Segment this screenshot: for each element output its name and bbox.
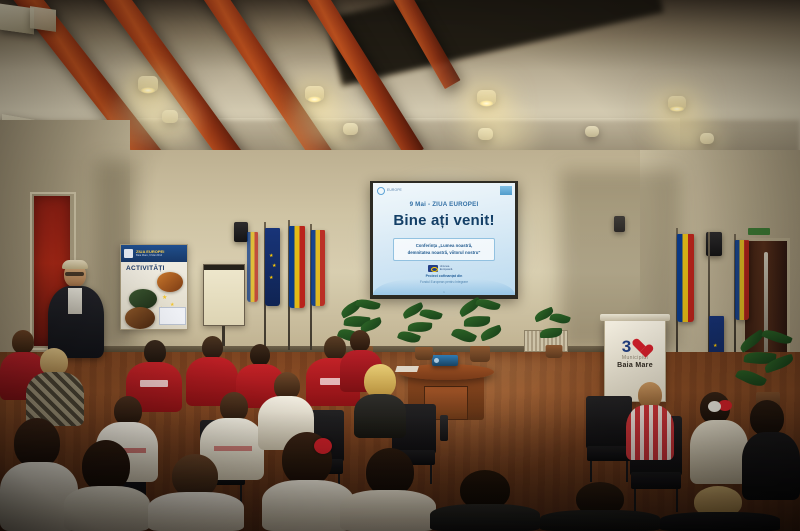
person-head <box>350 330 370 352</box>
podium-logo: 3 Municipiul Baia Mare <box>605 339 665 369</box>
person-head <box>202 336 223 359</box>
plant-leaf <box>549 311 571 326</box>
plant-leaf <box>451 325 477 345</box>
person-head <box>14 418 60 468</box>
ceiling-downlight <box>138 76 158 92</box>
plant-leaf <box>408 321 433 333</box>
plant-pot <box>415 347 433 360</box>
flipchart-board <box>203 264 245 326</box>
eu-star-icon: ★ <box>269 254 273 259</box>
person-white-shirt <box>64 486 150 531</box>
flag-romania-right-1 <box>677 234 694 322</box>
chair-seat <box>587 446 631 461</box>
poster-section-title: ACTIVITĂȚI <box>126 265 165 272</box>
flag-romania-left-2 <box>311 230 325 306</box>
child-foreground-white-shirt <box>148 454 244 531</box>
plant-leaf <box>540 328 562 338</box>
slide-textbox: Conferința „Lumea noastră, demnitatea no… <box>393 238 495 261</box>
plant-leaf <box>419 307 443 322</box>
flipchart-clamp <box>204 265 244 270</box>
poster-header: ZIUA EUROPEI Baia Mare, 9 Mai 2014 <box>121 245 187 262</box>
plant-leaf <box>355 297 381 312</box>
slide-logo-text: EUROPE <box>387 189 402 192</box>
potted-plant <box>398 304 450 360</box>
ceiling-downlight <box>305 86 324 101</box>
person-white-shirt <box>148 492 244 531</box>
potted-plant <box>530 308 578 358</box>
standing-man-presenter <box>46 262 108 358</box>
stone-corbel <box>30 6 56 32</box>
poster-photo <box>157 272 183 292</box>
ceiling-downlight <box>343 123 358 135</box>
person-hair-blonde <box>364 364 396 398</box>
chair-legs <box>590 461 629 482</box>
person-white-top <box>690 420 748 484</box>
seated-person-foreground <box>660 486 780 531</box>
person-white-shirt <box>340 490 436 531</box>
podium-logo-mark: 3 <box>622 339 648 354</box>
slide-eu-caption: Uniunea Europeană <box>440 265 460 271</box>
ceiling-downlight <box>477 90 496 105</box>
plant-pot <box>546 345 563 358</box>
poster-footer-block <box>159 307 186 325</box>
seated-woman-dark-top <box>742 400 800 500</box>
person-shirt <box>68 288 82 314</box>
eu-star-icon: ★ <box>269 276 273 281</box>
eu-star-icon: ★ <box>272 264 276 269</box>
star-icon: ★ <box>162 295 167 301</box>
ceiling-downlight <box>478 128 493 140</box>
hair-flower-red <box>314 438 332 454</box>
slide-eu-emblem: Uniunea Europeană <box>428 264 460 272</box>
person-body <box>430 504 540 531</box>
seated-woman-blonde <box>352 364 408 438</box>
shirt-embroidery <box>214 446 252 451</box>
flag-eu-left: ★ ★ ★ <box>265 228 280 306</box>
slide-textbox-line2: demnitatea noastră, viitorul nostru" <box>408 250 481 256</box>
ceiling-downlight <box>585 126 599 137</box>
seated-girl-red-bow <box>690 392 748 484</box>
heart-icon <box>632 339 648 354</box>
glasses-icon <box>65 272 84 276</box>
slide-page-number: 1 <box>373 290 515 294</box>
stone-corbel <box>0 4 34 35</box>
person-body <box>540 510 660 531</box>
person-plaid-shirt <box>626 405 674 460</box>
podium-logo-numeral: 3 <box>622 339 631 354</box>
tshirt-print <box>140 380 168 387</box>
poster-photo <box>129 289 157 309</box>
person-body <box>354 394 406 438</box>
conference-hall-photo: EUROPE 9 Mai - ZIUA EUROPEI Bine ați ven… <box>0 0 800 531</box>
person-head <box>250 344 270 366</box>
wall-speaker <box>234 222 248 242</box>
plant-leaf <box>479 325 503 342</box>
hair-flower <box>708 401 721 412</box>
seated-person-foreground <box>430 470 540 531</box>
potted-plant <box>452 300 508 362</box>
seated-boy-plaid-shirt <box>626 382 674 460</box>
equipment-box-under-table <box>440 415 448 441</box>
seated-woman-patterned-coat <box>26 348 84 426</box>
flag-romania-left-1 <box>289 226 305 308</box>
wall-speaker <box>614 216 625 232</box>
person-head <box>144 340 166 364</box>
person-head <box>750 400 784 436</box>
seated-person-foreground <box>540 482 660 531</box>
ceiling-downlight <box>700 133 714 144</box>
slide-logo: EUROPE <box>377 186 407 195</box>
seated-person-foreground <box>340 448 436 531</box>
poster-header-subtitle: Baia Mare, 9 Mai 2014 <box>136 254 164 257</box>
slide-corner-badge <box>500 186 512 195</box>
plant-pot <box>470 346 490 362</box>
ceiling-downlight <box>668 96 686 110</box>
event-poster: ZIUA EUROPEI Baia Mare, 9 Mai 2014 ACTIV… <box>120 244 188 330</box>
podium-desk-top <box>600 314 670 321</box>
plant-leaf <box>735 366 767 390</box>
poster-photo <box>125 307 155 329</box>
person-head <box>366 448 414 496</box>
flag-romania-right-2 <box>735 240 749 320</box>
exit-sign <box>748 228 770 235</box>
person-hair <box>62 260 88 269</box>
slide-title: Bine ați venit! <box>373 212 515 229</box>
plant-leaf <box>464 316 490 328</box>
person-head <box>82 440 130 492</box>
poster-logo-icon <box>124 249 133 258</box>
ceiling-downlight <box>162 110 178 123</box>
podium-logo-line2: Baia Mare <box>617 362 653 369</box>
slide-kicker: 9 Mai - ZIUA EUROPEI <box>373 201 515 208</box>
flag-romania-left-3 <box>247 232 258 302</box>
person-body <box>660 512 780 531</box>
eu-star-icon: ★ <box>713 344 717 349</box>
projected-slide: EUROPE 9 Mai - ZIUA EUROPEI Bine ați ven… <box>373 183 515 295</box>
slide-logo-ring-icon <box>377 187 385 195</box>
eu-flag-icon <box>428 265 438 272</box>
child-foreground-braid <box>64 440 150 531</box>
